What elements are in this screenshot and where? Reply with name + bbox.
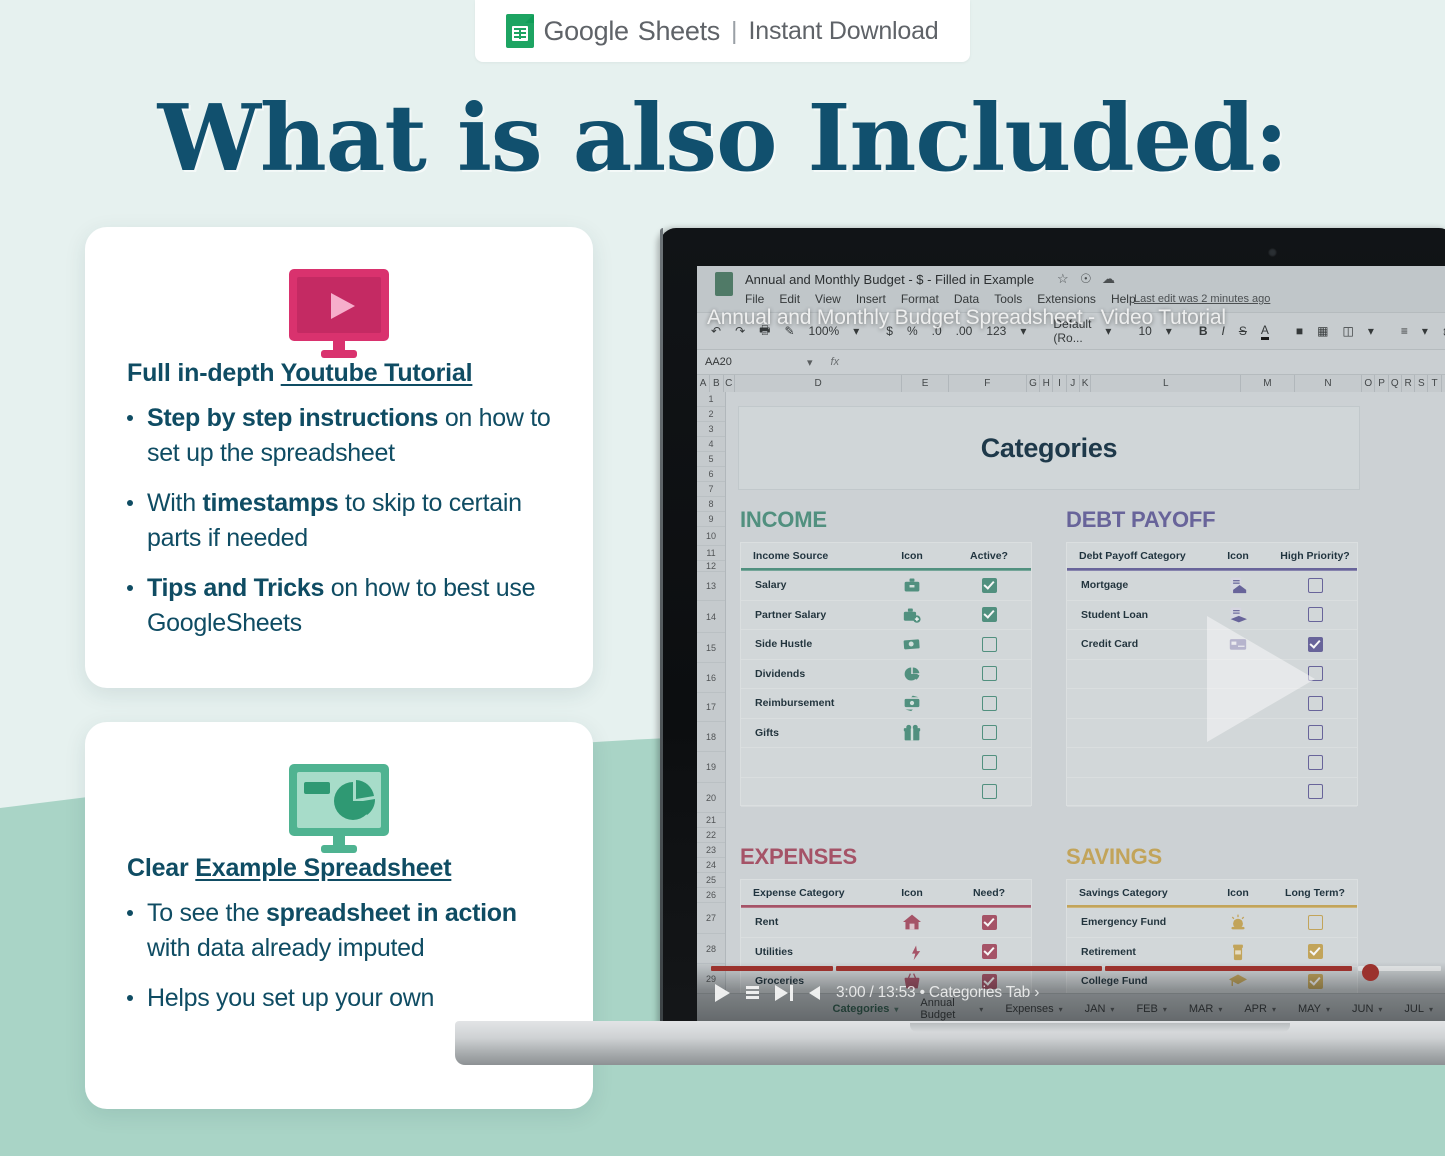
table-row[interactable]: [741, 748, 1031, 778]
row-label: [741, 748, 877, 778]
column-header[interactable]: N: [1295, 375, 1363, 392]
row-header[interactable]: 14: [697, 601, 725, 633]
bullet-pre: To see the: [147, 899, 266, 927]
row-header[interactable]: 28: [697, 934, 725, 964]
row-header[interactable]: 21: [697, 813, 725, 828]
row-label: Partner Salary: [741, 600, 877, 630]
row-header[interactable]: 26: [697, 888, 725, 903]
monitor-chart-icon: [85, 762, 593, 854]
table-row[interactable]: Mortgage: [1067, 571, 1357, 601]
row-header[interactable]: 24: [697, 858, 725, 873]
row-label: Mortgage: [1067, 571, 1203, 601]
row-checkbox[interactable]: [947, 748, 1031, 778]
column-header-label: Debt Payoff Category: [1067, 543, 1203, 568]
menu-help[interactable]: Help: [1111, 292, 1136, 306]
column-header-check: High Priority?: [1273, 543, 1357, 568]
laptop-base: [455, 1021, 1445, 1065]
video-controls: 3:00 / 13:53 • Categories Tab ›: [715, 984, 1039, 1002]
column-header[interactable]: E: [902, 375, 949, 392]
list-item: To see the spreadsheet in action with da…: [121, 896, 557, 965]
play-icon[interactable]: [715, 984, 730, 1002]
bullet-pre: With: [147, 489, 202, 517]
row-icon: [1203, 748, 1273, 778]
row-checkbox[interactable]: [1273, 777, 1357, 807]
monitor-play-icon: [85, 267, 593, 359]
fx-icon: fx: [831, 356, 840, 368]
bullet-bold: Tips and Tricks: [147, 574, 324, 602]
move-to-folder-icon[interactable]: ☉: [1080, 271, 1092, 287]
row-label: Credit Card: [1067, 630, 1203, 660]
table-row[interactable]: [1067, 777, 1357, 807]
column-header-icon: Icon: [877, 543, 947, 568]
row-icon: [877, 571, 947, 601]
table-row[interactable]: Emergency Fund: [1067, 908, 1357, 938]
next-video-icon[interactable]: [775, 985, 793, 1001]
laptop-screen: Annual and Monthly Budget - $ - Filled i…: [697, 266, 1445, 1024]
sheet-canvas: Categories INCOME Income SourceIconActiv…: [726, 392, 1445, 1024]
row-header[interactable]: 5: [697, 452, 725, 467]
row-icon: [877, 777, 947, 807]
row-header[interactable]: 13: [697, 572, 725, 601]
star-icon[interactable]: ☆: [1057, 271, 1069, 287]
row-icon: [1203, 908, 1273, 938]
name-box[interactable]: AA20: [697, 356, 777, 368]
document-title[interactable]: Annual and Monthly Budget - $ - Filled i…: [745, 272, 1034, 287]
bullet-bold: spreadsheet in action: [266, 899, 517, 927]
row-checkbox[interactable]: [947, 908, 1031, 938]
row-header[interactable]: 20: [697, 783, 725, 813]
menu-format[interactable]: Format: [901, 292, 939, 306]
column-header[interactable]: F: [949, 375, 1027, 392]
row-label: [1067, 718, 1203, 748]
google-sheets-badge: Google Sheets | Instant Download: [475, 0, 970, 62]
table-row[interactable]: Rent: [741, 908, 1031, 938]
row-checkbox[interactable]: [947, 777, 1031, 807]
column-header[interactable]: G: [1027, 375, 1040, 392]
category-table: Income SourceIconActive?SalaryPartner Sa…: [741, 543, 1031, 807]
column-header[interactable]: T: [1428, 375, 1441, 392]
row-icon: [877, 689, 947, 719]
play-icon[interactable]: [1207, 616, 1315, 742]
row-header[interactable]: 15: [697, 633, 725, 663]
row-label: [1067, 777, 1203, 807]
column-header[interactable]: R: [1402, 375, 1415, 392]
list-item: Helps you set up your own: [121, 981, 557, 1016]
column-header[interactable]: P: [1375, 375, 1388, 392]
column-header[interactable]: D: [735, 375, 902, 392]
row-label: Reimbursement: [741, 689, 877, 719]
column-header[interactable]: B: [710, 375, 723, 392]
table-row[interactable]: Reimbursement: [741, 689, 1031, 719]
categories-banner: Categories: [738, 406, 1360, 490]
row-checkbox[interactable]: [947, 689, 1031, 719]
spreadsheet-grid: 1234567891011121314151617181920212223242…: [697, 392, 1445, 1024]
video-progress-knob[interactable]: [1362, 964, 1379, 981]
card-example-title-plain: Clear: [127, 854, 195, 882]
row-header[interactable]: 18: [697, 722, 725, 752]
menu-edit[interactable]: Edit: [779, 292, 800, 306]
card-youtube-title-link[interactable]: Youtube Tutorial: [281, 359, 473, 387]
row-header[interactable]: 12: [697, 561, 725, 572]
column-headers: ABCDEFGHIJKLMNOPQRSTU: [697, 374, 1445, 392]
card-example-title-link[interactable]: Example Spreadsheet: [195, 854, 451, 882]
section-title-debt: DEBT PAYOFF: [1066, 507, 1215, 533]
row-icon: [877, 630, 947, 660]
formula-bar: AA20 ▾ fx: [697, 349, 1445, 374]
row-label: Rent: [741, 908, 877, 938]
row-label: [1067, 689, 1203, 719]
row-icon: [1203, 777, 1273, 807]
page-title: What is also Included:: [0, 84, 1445, 192]
column-header[interactable]: L: [1091, 375, 1241, 392]
instant-download-label: Instant Download: [749, 17, 939, 46]
list-item: Step by step instructions on how to set …: [121, 401, 557, 470]
row-checkbox[interactable]: [947, 659, 1031, 689]
row-label: Side Hustle: [741, 630, 877, 660]
row-checkbox[interactable]: [947, 630, 1031, 660]
column-header[interactable]: O: [1362, 375, 1375, 392]
column-header-label: Savings Category: [1067, 880, 1203, 905]
bullet-bold: timestamps: [202, 489, 338, 517]
video-overlay-title: Annual and Monthly Budget Spreadsheet - …: [707, 306, 1445, 330]
table-row[interactable]: Side Hustle: [741, 630, 1031, 660]
table-row[interactable]: Salary: [741, 571, 1031, 601]
playlist-icon[interactable]: [746, 986, 759, 1000]
row-header[interactable]: 9: [697, 512, 725, 527]
table-row[interactable]: Dividends: [741, 659, 1031, 689]
row-header[interactable]: 11: [697, 546, 725, 561]
row-header[interactable]: 23: [697, 843, 725, 858]
last-edit-label[interactable]: Last edit was 2 minutes ago: [1134, 293, 1270, 305]
table-row[interactable]: Partner Salary: [741, 600, 1031, 630]
volume-icon[interactable]: [809, 986, 820, 1000]
list-item: Tips and Tricks on how to best use Googl…: [121, 571, 557, 640]
card-youtube-bullets: Step by step instructions on how to set …: [121, 401, 557, 640]
row-header[interactable]: 4: [697, 437, 725, 452]
column-header-check: Long Term?: [1273, 880, 1357, 905]
badge-divider: |: [731, 17, 738, 46]
row-header[interactable]: 19: [697, 752, 725, 783]
menu-insert[interactable]: Insert: [856, 292, 886, 306]
column-header[interactable]: C: [724, 375, 736, 392]
card-example-title: Clear Example Spreadsheet: [127, 854, 557, 883]
table-row[interactable]: [741, 777, 1031, 807]
column-header-label: Income Source: [741, 543, 877, 568]
row-label: Gifts: [741, 718, 877, 748]
menu-file[interactable]: File: [745, 292, 764, 306]
webcam-icon: [1268, 248, 1277, 257]
table-row[interactable]: Gifts: [741, 718, 1031, 748]
row-label: [1067, 748, 1203, 778]
sheets-menubar[interactable]: FileEditViewInsertFormatDataToolsExtensi…: [745, 292, 1151, 306]
menu-data[interactable]: Data: [954, 292, 979, 306]
column-header[interactable]: K: [1080, 375, 1092, 392]
column-header[interactable]: M: [1241, 375, 1295, 392]
row-label: Emergency Fund: [1067, 908, 1203, 938]
video-progress-bar[interactable]: [711, 966, 1441, 971]
banner-title: Categories: [981, 433, 1118, 464]
video-control-bar: 3:00 / 13:53 • Categories Tab ›: [697, 962, 1445, 1024]
column-header[interactable]: S: [1415, 375, 1428, 392]
column-header-check: Need?: [947, 880, 1031, 905]
row-header[interactable]: 17: [697, 693, 725, 722]
card-youtube-tutorial: Full in-depth Youtube Tutorial Step by s…: [85, 227, 593, 688]
cloud-saved-icon[interactable]: ☁: [1102, 271, 1115, 287]
brand-sheets: Sheets: [638, 18, 720, 45]
laptop-lid: MacBook Pro Annual and Monthly Budget - …: [660, 228, 1445, 1046]
card-youtube-title: Full in-depth Youtube Tutorial: [127, 359, 557, 388]
section-title-income: INCOME: [740, 507, 827, 533]
column-header[interactable]: A: [697, 375, 710, 392]
row-checkbox[interactable]: [1273, 748, 1357, 778]
column-header[interactable]: J: [1067, 375, 1080, 392]
column-header-check: Active?: [947, 543, 1031, 568]
row-label: Salary: [741, 571, 877, 601]
laptop-mockup: MacBook Pro Annual and Monthly Budget - …: [655, 228, 1445, 1073]
table-row[interactable]: [1067, 748, 1357, 778]
list-item: With timestamps to skip to certain parts…: [121, 486, 557, 555]
row-label: Dividends: [741, 659, 877, 689]
row-label: [1067, 659, 1203, 689]
row-label: [741, 777, 877, 807]
row-icon: [877, 600, 947, 630]
row-icon: [1203, 571, 1273, 601]
row-icon: [877, 718, 947, 748]
card-example-bullets: To see the spreadsheet in action with da…: [121, 896, 557, 1016]
sheets-doc-icon: [715, 272, 733, 296]
row-header[interactable]: 22: [697, 828, 725, 843]
row-checkbox[interactable]: [947, 718, 1031, 748]
row-header[interactable]: 10: [697, 527, 725, 546]
brand-google: Google: [543, 18, 628, 45]
row-header[interactable]: 6: [697, 467, 725, 482]
row-header[interactable]: 16: [697, 663, 725, 693]
bullet-bold: Step by step instructions: [147, 404, 438, 432]
row-header[interactable]: 1: [697, 392, 725, 407]
google-sheets-icon: [506, 14, 534, 48]
row-headers: 1234567891011121314151617181920212223242…: [697, 392, 726, 1024]
row-header[interactable]: 3: [697, 422, 725, 437]
google-sheets-app: Annual and Monthly Budget - $ - Filled i…: [697, 266, 1445, 1024]
row-checkbox[interactable]: [1273, 908, 1357, 938]
video-time-display[interactable]: 3:00 / 13:53 • Categories Tab ›: [836, 984, 1039, 1002]
menu-extensions[interactable]: Extensions: [1037, 292, 1096, 306]
table-income: Income SourceIconActive?SalaryPartner Sa…: [740, 542, 1032, 806]
row-header[interactable]: 25: [697, 873, 725, 888]
bullet-rest: Helps you set up your own: [147, 984, 434, 1012]
row-icon: [877, 748, 947, 778]
column-header-label: Expense Category: [741, 880, 877, 905]
row-icon: [877, 659, 947, 689]
row-icon: [877, 908, 947, 938]
section-title-expenses: EXPENSES: [740, 844, 857, 870]
column-header-icon: Icon: [1203, 880, 1273, 905]
column-header[interactable]: Q: [1389, 375, 1402, 392]
column-header-icon: Icon: [1203, 543, 1273, 568]
row-header[interactable]: 2: [697, 407, 725, 422]
section-title-savings: SAVINGS: [1066, 844, 1162, 870]
menu-tools[interactable]: Tools: [994, 292, 1022, 306]
bullet-rest: with data already imputed: [147, 934, 424, 962]
column-header-icon: Icon: [877, 880, 947, 905]
row-checkbox[interactable]: [947, 571, 1031, 601]
row-header[interactable]: 8: [697, 497, 725, 512]
column-header[interactable]: H: [1040, 375, 1053, 392]
column-header[interactable]: I: [1053, 375, 1066, 392]
chevron-down-icon[interactable]: ▾: [807, 356, 813, 369]
row-checkbox[interactable]: [1273, 571, 1357, 601]
row-header[interactable]: 7: [697, 482, 725, 497]
row-checkbox[interactable]: [947, 600, 1031, 630]
row-header[interactable]: 27: [697, 903, 725, 934]
row-label: Student Loan: [1067, 600, 1203, 630]
menu-view[interactable]: View: [815, 292, 841, 306]
card-youtube-title-plain: Full in-depth: [127, 359, 281, 387]
